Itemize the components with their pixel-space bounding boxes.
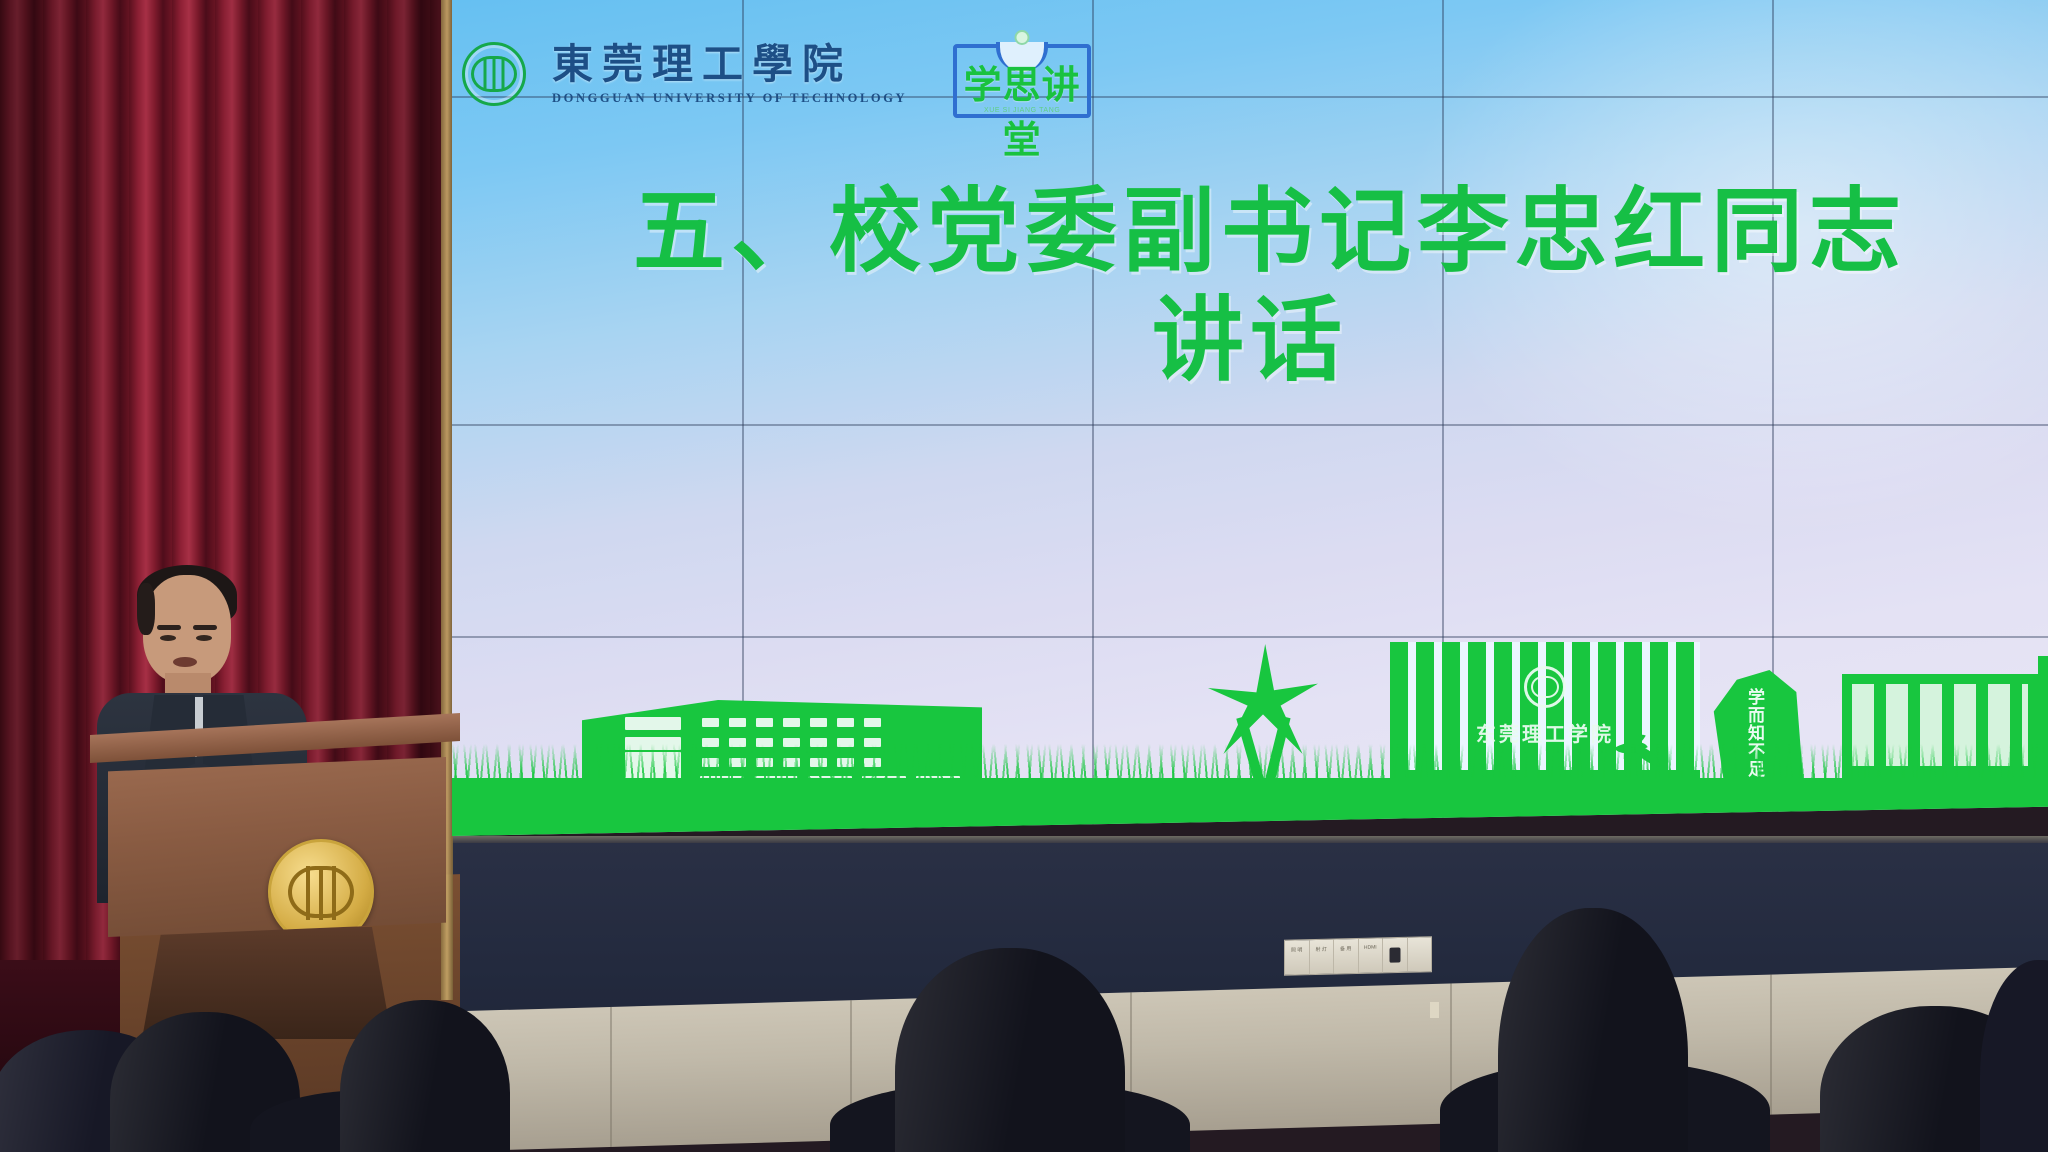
- slide-title-line2: 讲话: [452, 287, 2048, 396]
- program-logo: 学思讲堂 XUE SI JIANG TANG: [947, 28, 1097, 120]
- slide-header: 東莞理工學院 DONGGUAN UNIVERSITY OF TECHNOLOGY…: [452, 0, 2048, 140]
- switch-cell-4[interactable]: HDMI: [1359, 938, 1384, 973]
- switch-cell-2[interactable]: 射 灯: [1310, 940, 1335, 975]
- gate-emblem-icon: [1524, 666, 1566, 708]
- program-name-en: XUE SI JIANG TANG: [947, 107, 1097, 114]
- socket-cell[interactable]: [1383, 938, 1408, 973]
- book-dot-icon: [1015, 30, 1030, 45]
- university-name-cn: 東莞理工學院: [552, 44, 907, 85]
- campus-skyline-graphic: 东莞理工学院 学而知不足: [452, 606, 2048, 836]
- university-wordmark: 東莞理工學院 DONGGUAN UNIVERSITY OF TECHNOLOGY: [552, 44, 907, 105]
- presenter-hair-side: [137, 583, 155, 635]
- stage-wall-top-edge: [440, 836, 2048, 843]
- blank-cell[interactable]: [1408, 937, 1432, 972]
- switch-cell-1[interactable]: 照 明: [1285, 940, 1310, 975]
- switch-cell-3[interactable]: 备 用: [1334, 939, 1359, 974]
- lectern-front-panel: [108, 757, 446, 937]
- led-video-wall: 東莞理工學院 DONGGUAN UNIVERSITY OF TECHNOLOGY…: [452, 0, 2048, 836]
- slide-title: 五、校党委副书记李忠红同志 讲话: [452, 178, 2048, 395]
- wall-switch-panel[interactable]: 照 明 射 灯 备 用 HDMI: [1284, 936, 1432, 976]
- slide-title-line1: 五、校党委副书记李忠红同志: [492, 178, 2048, 287]
- presenter-mouth: [173, 657, 197, 667]
- wooden-lectern: [90, 735, 460, 1035]
- screenshot-root: 東莞理工學院 DONGGUAN UNIVERSITY OF TECHNOLOGY…: [0, 0, 2048, 1152]
- university-name-en: DONGGUAN UNIVERSITY OF TECHNOLOGY: [552, 92, 907, 105]
- dgut-roundel-icon: [462, 42, 526, 106]
- wall-mark: [1430, 1002, 1439, 1018]
- tile-seam-horizontal: [452, 424, 2048, 426]
